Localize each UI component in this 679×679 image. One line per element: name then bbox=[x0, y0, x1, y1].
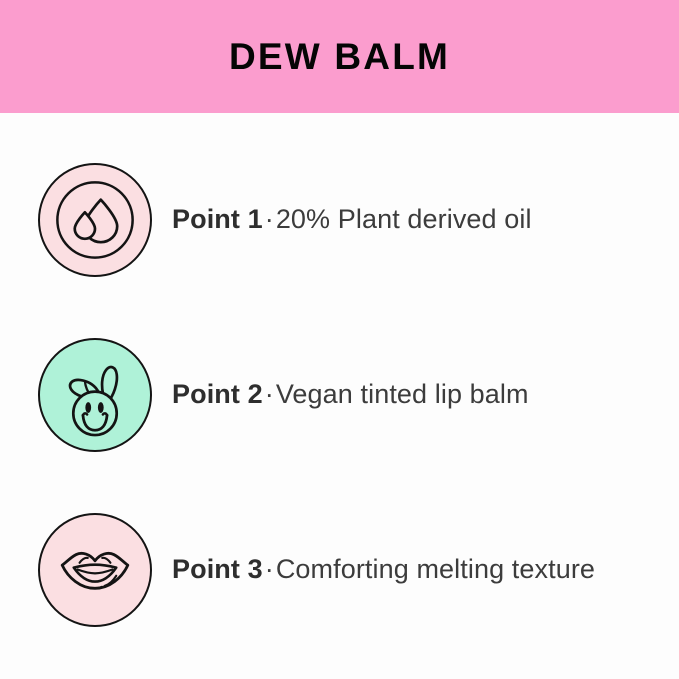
point-separator: · bbox=[263, 379, 276, 409]
point-label: Point 1 bbox=[172, 204, 263, 234]
point-description: Comforting melting texture bbox=[276, 554, 595, 584]
point-description: 20% Plant derived oil bbox=[276, 204, 532, 234]
lips-icon bbox=[38, 513, 152, 627]
point-text: Point 1·20% Plant derived oil bbox=[172, 205, 532, 235]
oil-droplets-icon bbox=[38, 163, 152, 277]
points-list: Point 1·20% Plant derived oil bbox=[0, 113, 679, 679]
smiling-bunny-icon bbox=[38, 338, 152, 452]
point-separator: · bbox=[263, 554, 276, 584]
page-title: DEW BALM bbox=[229, 38, 450, 75]
point-text: Point 3·Comforting melting texture bbox=[172, 555, 595, 585]
point-label: Point 3 bbox=[172, 554, 263, 584]
point-separator: · bbox=[263, 204, 276, 234]
point-text: Point 2·Vegan tinted lip balm bbox=[172, 380, 529, 410]
list-item: Point 1·20% Plant derived oil bbox=[0, 132, 679, 307]
point-label: Point 2 bbox=[172, 379, 263, 409]
header-banner: DEW BALM bbox=[0, 0, 679, 113]
list-item: Point 2·Vegan tinted lip balm bbox=[0, 307, 679, 482]
list-item: Point 3·Comforting melting texture bbox=[0, 482, 679, 657]
point-description: Vegan tinted lip balm bbox=[276, 379, 529, 409]
